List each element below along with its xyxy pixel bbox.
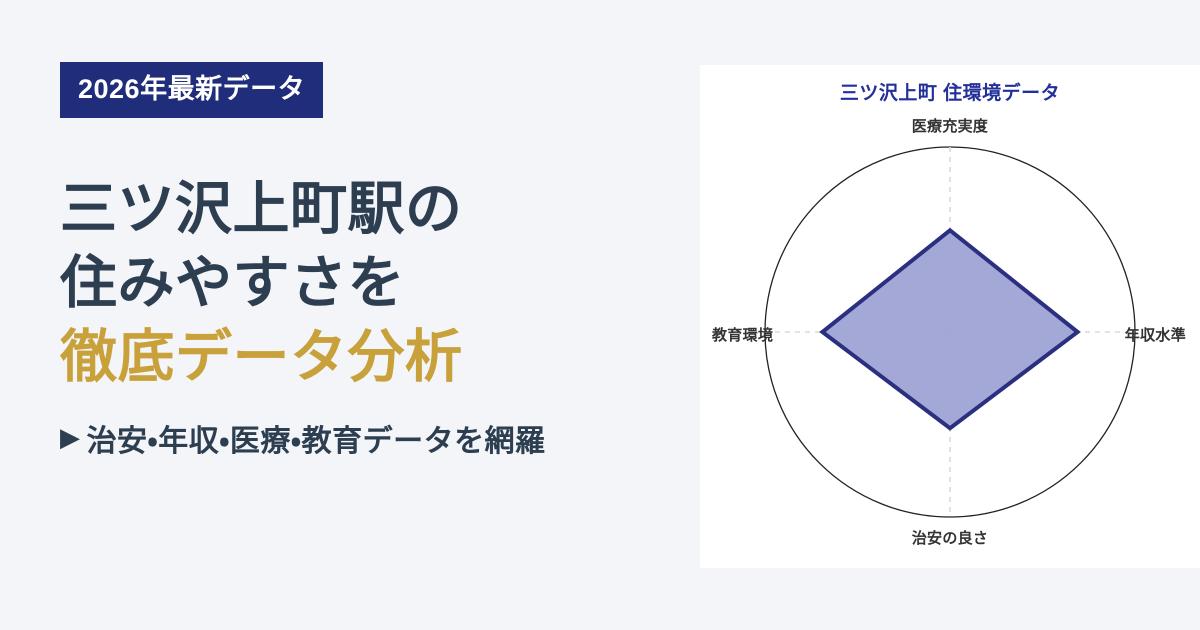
headline-line-2: 住みやすさを (60, 246, 700, 320)
hero-text-column: 2026年最新データ 三ツ沢上町駅の 住みやすさを 徹底データ分析 ▶ 治安・年… (0, 0, 700, 630)
subtitle-label: 治安・年収・医療・教育データを網羅 (87, 416, 546, 460)
radar-axis-label-medical: 医療充実度 (700, 115, 1200, 136)
headline-line-1: 三ツ沢上町駅の (60, 172, 700, 246)
page-title: 三ツ沢上町駅の 住みやすさを 徹底データ分析 (60, 172, 700, 394)
play-triangle-icon: ▶ (60, 424, 81, 450)
radar-axis-label-safety: 治安の良さ (700, 527, 1200, 548)
status-badge: 2026年最新データ (60, 62, 323, 118)
radar-chart-svg (700, 65, 1200, 568)
radar-chart-panel: 三ツ沢上町 住環境データ 医療充実度 年収水準 治安の良さ 教育環境 (700, 65, 1200, 568)
radar-data-polygon (822, 230, 1077, 428)
radar-axis-label-income: 年収水準 (1125, 324, 1186, 345)
radar-axis-label-education: 教育環境 (712, 324, 773, 345)
headline-line-3: 徹底データ分析 (60, 320, 700, 394)
subtitle: ▶ 治安・年収・医療・教育データを網羅 (60, 416, 700, 460)
